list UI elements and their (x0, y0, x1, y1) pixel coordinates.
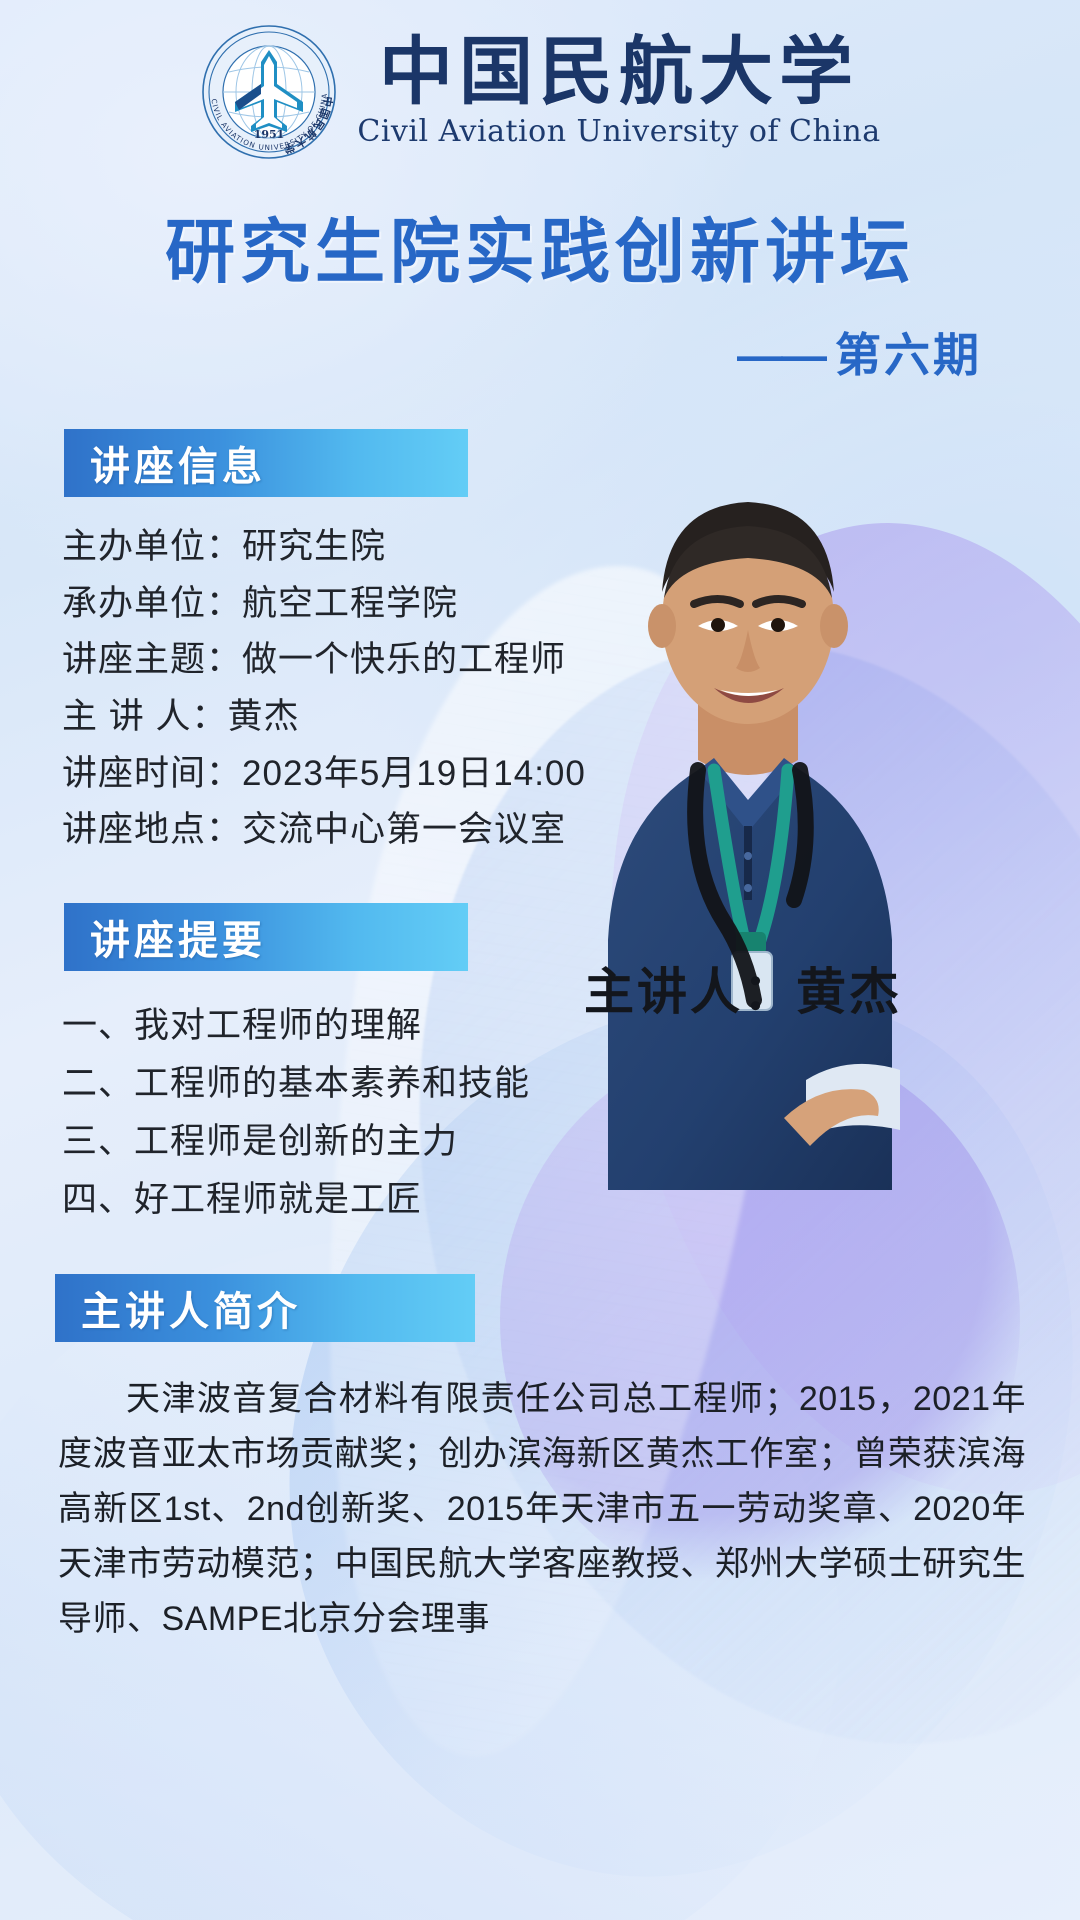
lecture-outline-list: 一、我对工程师的理解 二、工程师的基本素养和技能 三、工程师是创新的主力 四、好… (62, 997, 1080, 1229)
poster-root: 1951 中国民航大学 CIVIL AVIATION UNIVERSITY OF… (0, 0, 1080, 1920)
page-title: 研究生院实践创新讲坛 (0, 196, 1080, 297)
lecture-info-list: 主办单位：研究生院 承办单位：航空工程学院 讲座主题：做一个快乐的工程师 主 讲… (62, 519, 1080, 859)
university-name-cn: 中国民航大学 (379, 35, 859, 110)
outline-item: 二、工程师的基本素养和技能 (62, 1055, 1080, 1113)
speaker-bio: 天津波音复合材料有限责任公司总工程师；2015，2021年度波音亚太市场贡献奖；… (58, 1372, 1026, 1647)
info-value: 航空工程学院 (242, 584, 458, 623)
info-label: 讲座地点： (62, 810, 242, 849)
info-row: 主 讲 人：黄杰 (62, 689, 1080, 746)
info-value: 2023年5月19日14:00 (242, 754, 586, 793)
university-name-en: Civil Aviation University of China (357, 114, 880, 149)
info-row: 讲座地点：交流中心第一会议室 (62, 802, 1080, 859)
cauc-emblem-icon: 1951 中国民航大学 CIVIL AVIATION UNIVERSITY OF… (199, 22, 339, 162)
section-header-bio-label: 主讲人简介 (55, 1279, 301, 1337)
subtitle-issue: 第六期 (835, 329, 982, 381)
section-header-info-label: 讲座信息 (64, 434, 266, 492)
info-label: 承办单位： (62, 584, 242, 623)
svg-text:1951: 1951 (254, 128, 285, 141)
info-row: 主办单位：研究生院 (62, 519, 1080, 576)
university-name-block: 中国民航大学 Civil Aviation University of Chin… (357, 35, 880, 149)
info-row: 讲座时间：2023年5月19日14:00 (62, 746, 1080, 803)
section-header-outline: 讲座提要 (64, 903, 468, 971)
section-header-info: 讲座信息 (64, 429, 468, 497)
info-value: 交流中心第一会议室 (242, 810, 566, 849)
info-label: 主办单位： (62, 527, 242, 566)
outline-item: 三、工程师是创新的主力 (62, 1113, 1080, 1171)
section-header-bio: 主讲人简介 (55, 1274, 475, 1342)
subtitle-dash: —— (737, 329, 825, 381)
outline-item: 一、我对工程师的理解 (62, 997, 1080, 1055)
info-value: 研究生院 (242, 527, 386, 566)
poster-header: 1951 中国民航大学 CIVIL AVIATION UNIVERSITY OF… (0, 0, 1080, 162)
section-header-outline-label: 讲座提要 (64, 908, 266, 966)
issue-subtitle: ——第六期 (0, 319, 1080, 385)
info-row: 承办单位：航空工程学院 (62, 576, 1080, 633)
info-value: 做一个快乐的工程师 (242, 640, 566, 679)
info-label: 主 讲 人： (62, 697, 227, 736)
info-row: 讲座主题：做一个快乐的工程师 (62, 632, 1080, 689)
speaker-bio-text: 天津波音复合材料有限责任公司总工程师；2015，2021年度波音亚太市场贡献奖；… (58, 1372, 1026, 1647)
info-label: 讲座主题： (62, 640, 242, 679)
outline-item: 四、好工程师就是工匠 (62, 1171, 1080, 1229)
info-label: 讲座时间： (62, 754, 242, 793)
info-value: 黄杰 (227, 697, 299, 736)
